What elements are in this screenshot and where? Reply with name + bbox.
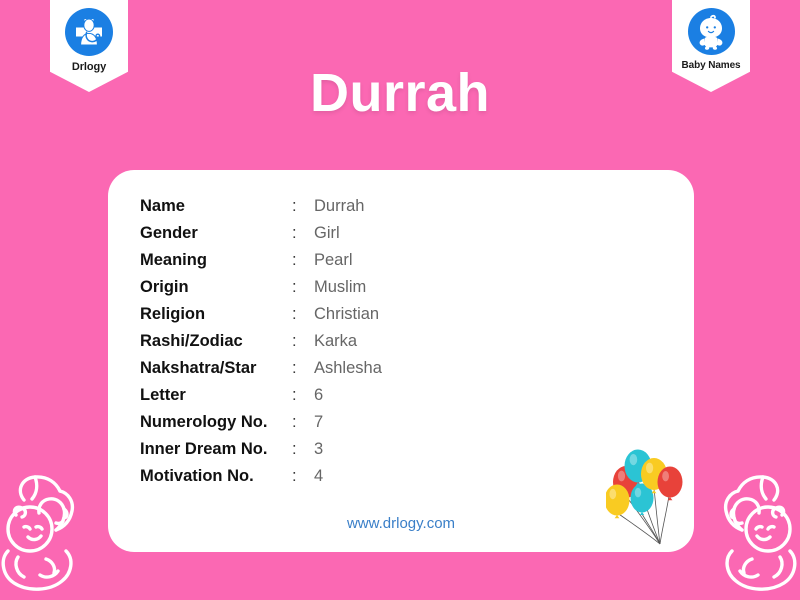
row-value: Karka bbox=[314, 328, 382, 355]
row-label: Letter bbox=[140, 382, 292, 409]
table-row: Rashi/Zodiac : Karka bbox=[140, 328, 382, 355]
row-label: Numerology No. bbox=[140, 409, 292, 436]
row-value: 3 bbox=[314, 436, 382, 463]
row-value: Girl bbox=[314, 220, 382, 247]
row-value: 6 bbox=[314, 382, 382, 409]
row-label: Rashi/Zodiac bbox=[140, 328, 292, 355]
row-value: 7 bbox=[314, 409, 382, 436]
row-separator: : bbox=[292, 382, 314, 409]
drlogy-logo-badge bbox=[65, 8, 113, 56]
row-separator: : bbox=[292, 220, 314, 247]
baby-icon bbox=[691, 12, 731, 52]
table-row: Religion : Christian bbox=[140, 301, 382, 328]
row-label: Inner Dream No. bbox=[140, 436, 292, 463]
row-separator: : bbox=[292, 409, 314, 436]
row-separator: : bbox=[292, 436, 314, 463]
row-label: Meaning bbox=[140, 247, 292, 274]
table-row: Origin : Muslim bbox=[140, 274, 382, 301]
row-label: Name bbox=[140, 193, 292, 220]
baby-names-logo-badge bbox=[688, 8, 735, 55]
table-row: Meaning : Pearl bbox=[140, 247, 382, 274]
row-label: Origin bbox=[140, 274, 292, 301]
row-label: Gender bbox=[140, 220, 292, 247]
table-row: Inner Dream No. : 3 bbox=[140, 436, 382, 463]
row-separator: : bbox=[292, 301, 314, 328]
row-value: Christian bbox=[314, 301, 382, 328]
row-value: Durrah bbox=[314, 193, 382, 220]
website-link[interactable]: www.drlogy.com bbox=[108, 515, 694, 532]
row-value: 4 bbox=[314, 463, 382, 490]
page-title: Durrah bbox=[0, 66, 800, 120]
row-value: Muslim bbox=[314, 274, 382, 301]
table-row: Gender : Girl bbox=[140, 220, 382, 247]
table-row: Numerology No. : 7 bbox=[140, 409, 382, 436]
row-value: Pearl bbox=[314, 247, 382, 274]
row-separator: : bbox=[292, 193, 314, 220]
name-details-table: Name : Durrah Gender : Girl Meaning : Pe… bbox=[140, 193, 382, 490]
table-row: Nakshatra/Star : Ashlesha bbox=[140, 355, 382, 382]
watermark-mother-and-baby-left bbox=[0, 463, 98, 600]
row-label: Religion bbox=[140, 301, 292, 328]
row-separator: : bbox=[292, 463, 314, 490]
watermark-mother-and-baby-right bbox=[700, 463, 800, 600]
doctor-medical-cross-icon bbox=[69, 12, 109, 52]
row-separator: : bbox=[292, 247, 314, 274]
row-label: Nakshatra/Star bbox=[140, 355, 292, 382]
row-separator: : bbox=[292, 355, 314, 382]
row-separator: : bbox=[292, 328, 314, 355]
row-label: Motivation No. bbox=[140, 463, 292, 490]
baby-name-info-card-page: { "background_color": "#fb68b3", "title"… bbox=[0, 0, 800, 600]
name-details-card: Name : Durrah Gender : Girl Meaning : Pe… bbox=[108, 170, 694, 552]
table-row: Letter : 6 bbox=[140, 382, 382, 409]
row-value: Ashlesha bbox=[314, 355, 382, 382]
table-row: Motivation No. : 4 bbox=[140, 463, 382, 490]
row-separator: : bbox=[292, 274, 314, 301]
table-row: Name : Durrah bbox=[140, 193, 382, 220]
balloons-icon bbox=[606, 444, 692, 552]
